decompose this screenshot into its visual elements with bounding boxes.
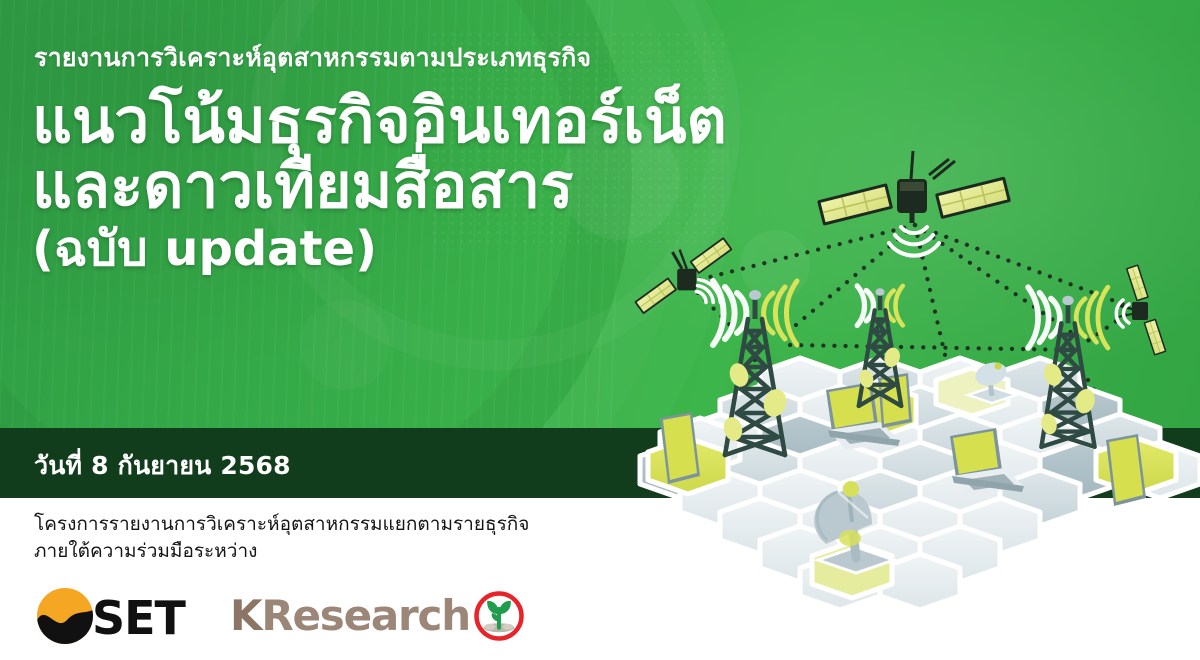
page-title: แนวโน้มธุรกิจอินเทอร์เน็ต และดาวเทียมสื่…	[32, 88, 872, 275]
kresearch-logo: KResearch	[230, 588, 526, 644]
kresearch-k: K	[230, 591, 261, 640]
set-wordmark: SET	[92, 591, 187, 645]
footer-line-1: โครงการรายงานการวิเคราะห์อุตสาหกรรมแยกตา…	[34, 511, 529, 538]
title-line-3: (ฉบับ update)	[32, 224, 872, 274]
poster-canvas: รายงานการวิเคราะห์อุตสาหกรรมตามประเภทธุร…	[0, 0, 1200, 660]
set-logo: SET	[34, 586, 206, 646]
title-line-2: และดาวเทียมสื่อสาร	[32, 153, 872, 218]
kresearch-research: Research	[261, 591, 470, 640]
footer-line-2: ภายใต้ความร่วมมือระหว่าง	[34, 538, 529, 565]
title-line-1: แนวโน้มธุรกิจอินเทอร์เน็ต	[32, 88, 872, 153]
kresearch-wordmark: KResearch	[230, 595, 470, 637]
kicker-text: รายงานการวิเคราะห์อุตสาหกรรมตามประเภทธุร…	[34, 38, 591, 78]
footer-note: โครงการรายงานการวิเคราะห์อุตสาหกรรมแยกตา…	[34, 511, 529, 565]
publication-date: วันที่ 8 กันยายน 2568	[34, 446, 291, 486]
set-sun-wave-circle-icon	[37, 588, 93, 644]
kresearch-sprout-circle-icon	[472, 589, 526, 643]
set-logo-svg: SET	[34, 586, 206, 646]
